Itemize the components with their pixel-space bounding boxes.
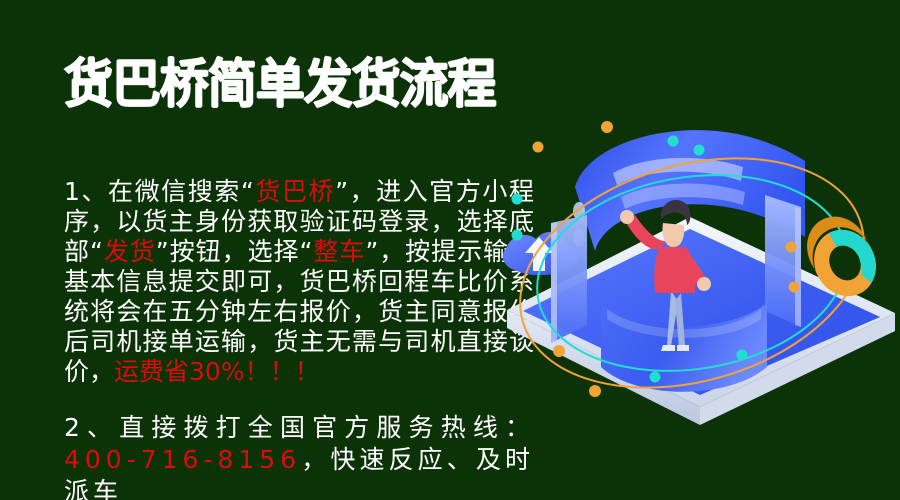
left-fin-panel: [551, 215, 587, 343]
p2-text-1: 2、直接拨打全国官方服务热线：: [64, 413, 534, 442]
right-fin-panel: [765, 195, 801, 327]
body-copy: 1、在微信搜索“货巴桥”，进入官方小程序，以货主身份获取验证码登录，选择底部“发…: [64, 152, 534, 500]
hero-illustration: [495, 95, 900, 425]
paragraph-step-2: 2、直接拨打全国官方服务热线：400-716-8156，快速反应、及时派车: [64, 412, 534, 500]
page-title: 货巴桥简单发货流程: [64, 56, 495, 114]
poster-canvas: 货巴桥简单发货流程 1、在微信搜索“货巴桥”，进入官方小程序，以货主身份获取验证…: [0, 0, 900, 500]
paragraph-step-1: 1、在微信搜索“货巴桥”，进入官方小程序，以货主身份获取验证码登录，选择底部“发…: [64, 177, 534, 387]
p1-highlight-brand: 货巴桥: [254, 177, 335, 206]
hotline-phone-number[interactable]: 400-716-8156: [64, 445, 301, 474]
p1-text-1: 1、在微信搜索“: [64, 177, 254, 206]
p1-highlight-savings: 运费省30%！！！: [114, 357, 320, 386]
p1-highlight-fulltruck: 整车: [312, 237, 365, 266]
p1-text-3: ”按钮，选择“: [156, 237, 313, 266]
p1-highlight-ship: 发货: [103, 237, 156, 266]
